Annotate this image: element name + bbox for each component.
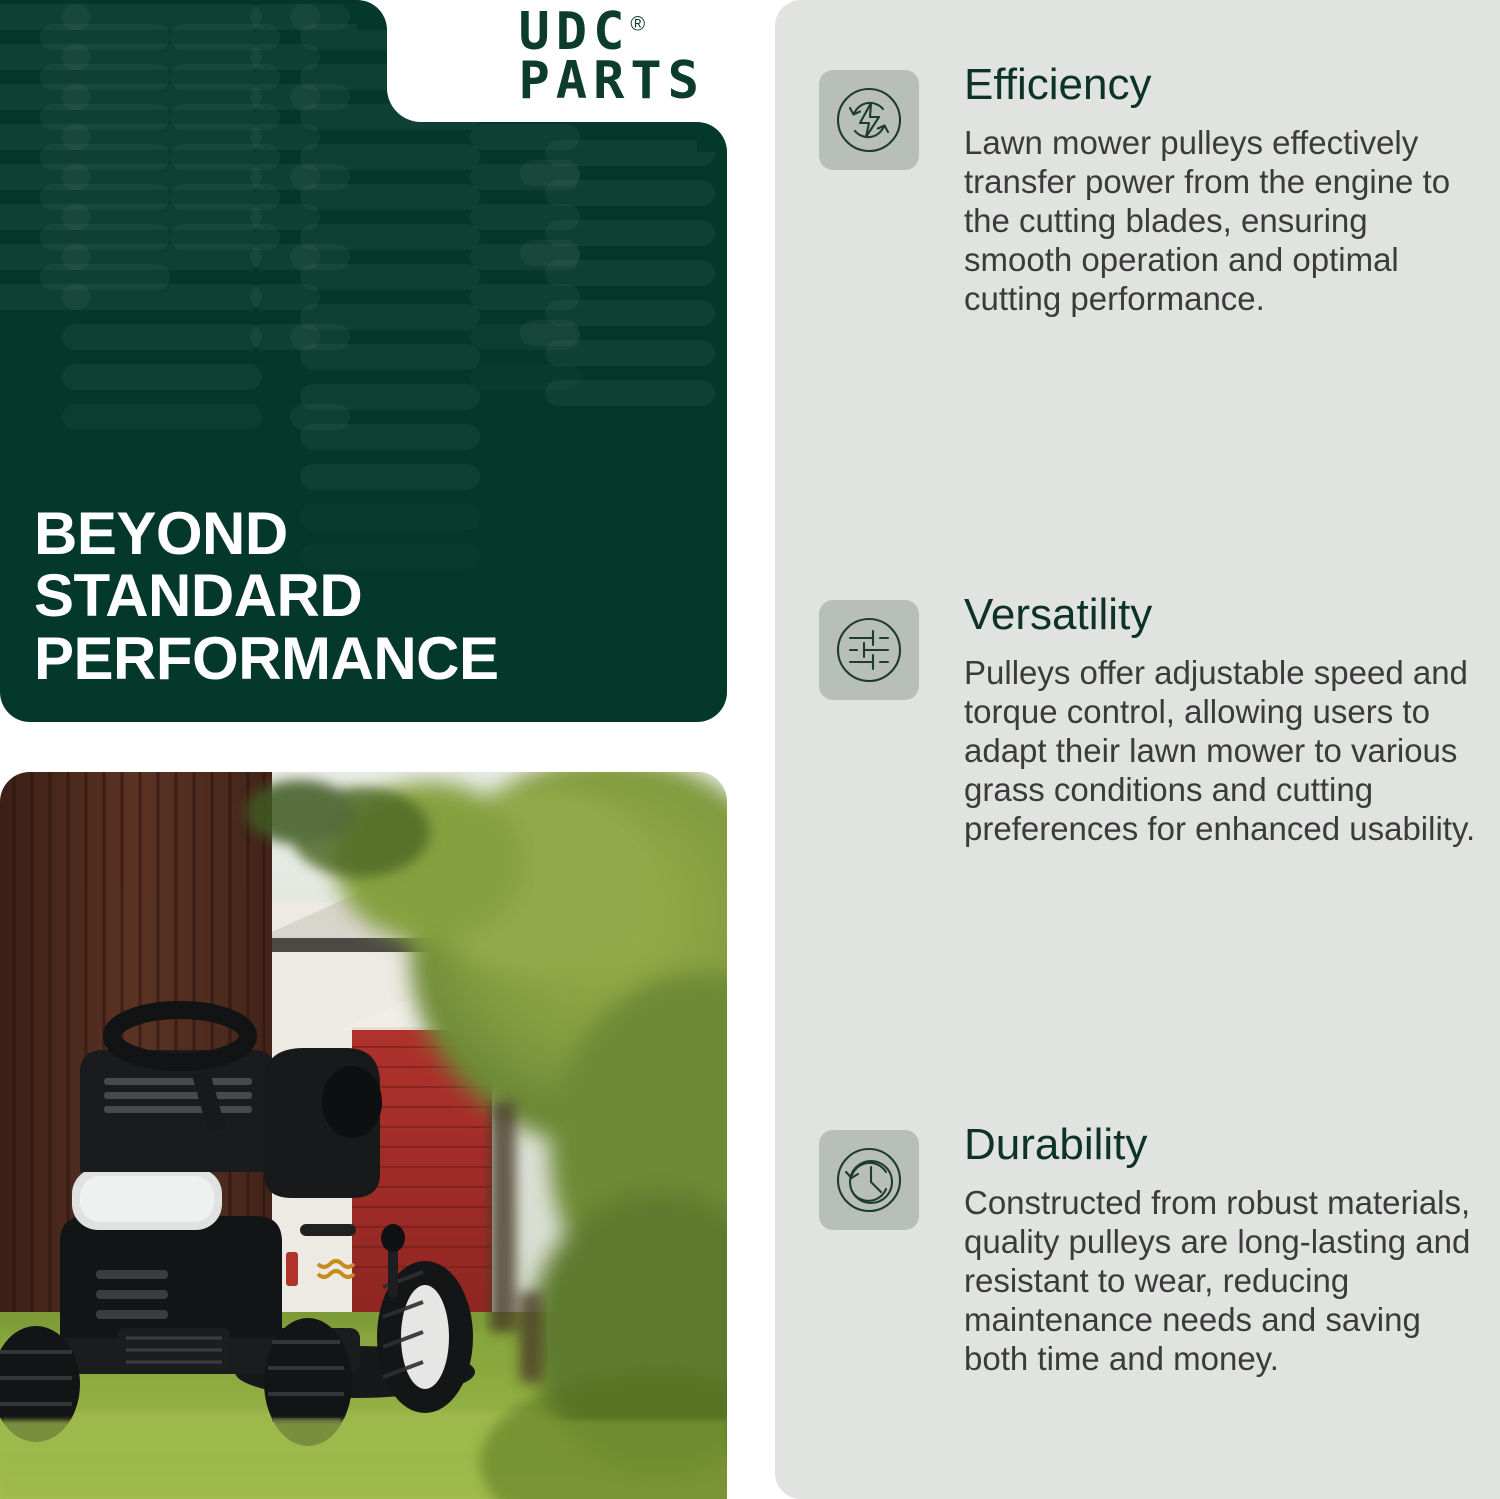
registered-trademark-icon: ®: [630, 14, 645, 36]
page-headline: BEYOND STANDARD PERFORMANCE: [34, 503, 499, 690]
feature-title: Durability: [964, 1122, 1478, 1168]
brand-panel: UDC® PARTS BEYOND STANDARD PERFORMANCE: [0, 0, 727, 722]
feature-description: Pulleys offer adjustable speed and torqu…: [964, 654, 1478, 849]
notch-corner-left: [357, 0, 387, 30]
feature-title: Versatility: [964, 592, 1478, 638]
headline-line-1: BEYOND: [34, 503, 499, 565]
features-panel: Efficiency Lawn mower pulleys effectivel…: [775, 0, 1500, 1499]
headline-line-3: PERFORMANCE: [34, 628, 499, 690]
energy-recycle-icon: [819, 70, 919, 170]
feature-description: Lawn mower pulleys effectively transfer …: [964, 124, 1478, 319]
lawn-mower-photo: [0, 772, 727, 1499]
headline-line-2: STANDARD: [34, 565, 499, 627]
feature-versatility: Versatility Pulleys offer adjustable spe…: [819, 592, 1478, 849]
udc-parts-logo: UDC® PARTS: [518, 8, 705, 107]
clock-history-icon: [819, 1130, 919, 1230]
feature-title: Efficiency: [964, 62, 1478, 108]
logo-text-parts: PARTS: [518, 57, 705, 106]
logo-text-udc: UDC: [518, 2, 630, 62]
notch-corner-below: [697, 122, 727, 152]
left-column: UDC® PARTS BEYOND STANDARD PERFORMANCE: [0, 0, 727, 1499]
feature-description: Constructed from robust materials, quali…: [964, 1184, 1478, 1379]
feature-durability: Durability Constructed from robust mater…: [819, 1122, 1478, 1379]
lawn-mower-illustration: [0, 772, 727, 1499]
feature-efficiency: Efficiency Lawn mower pulleys effectivel…: [819, 62, 1478, 319]
sliders-settings-icon: [819, 600, 919, 700]
